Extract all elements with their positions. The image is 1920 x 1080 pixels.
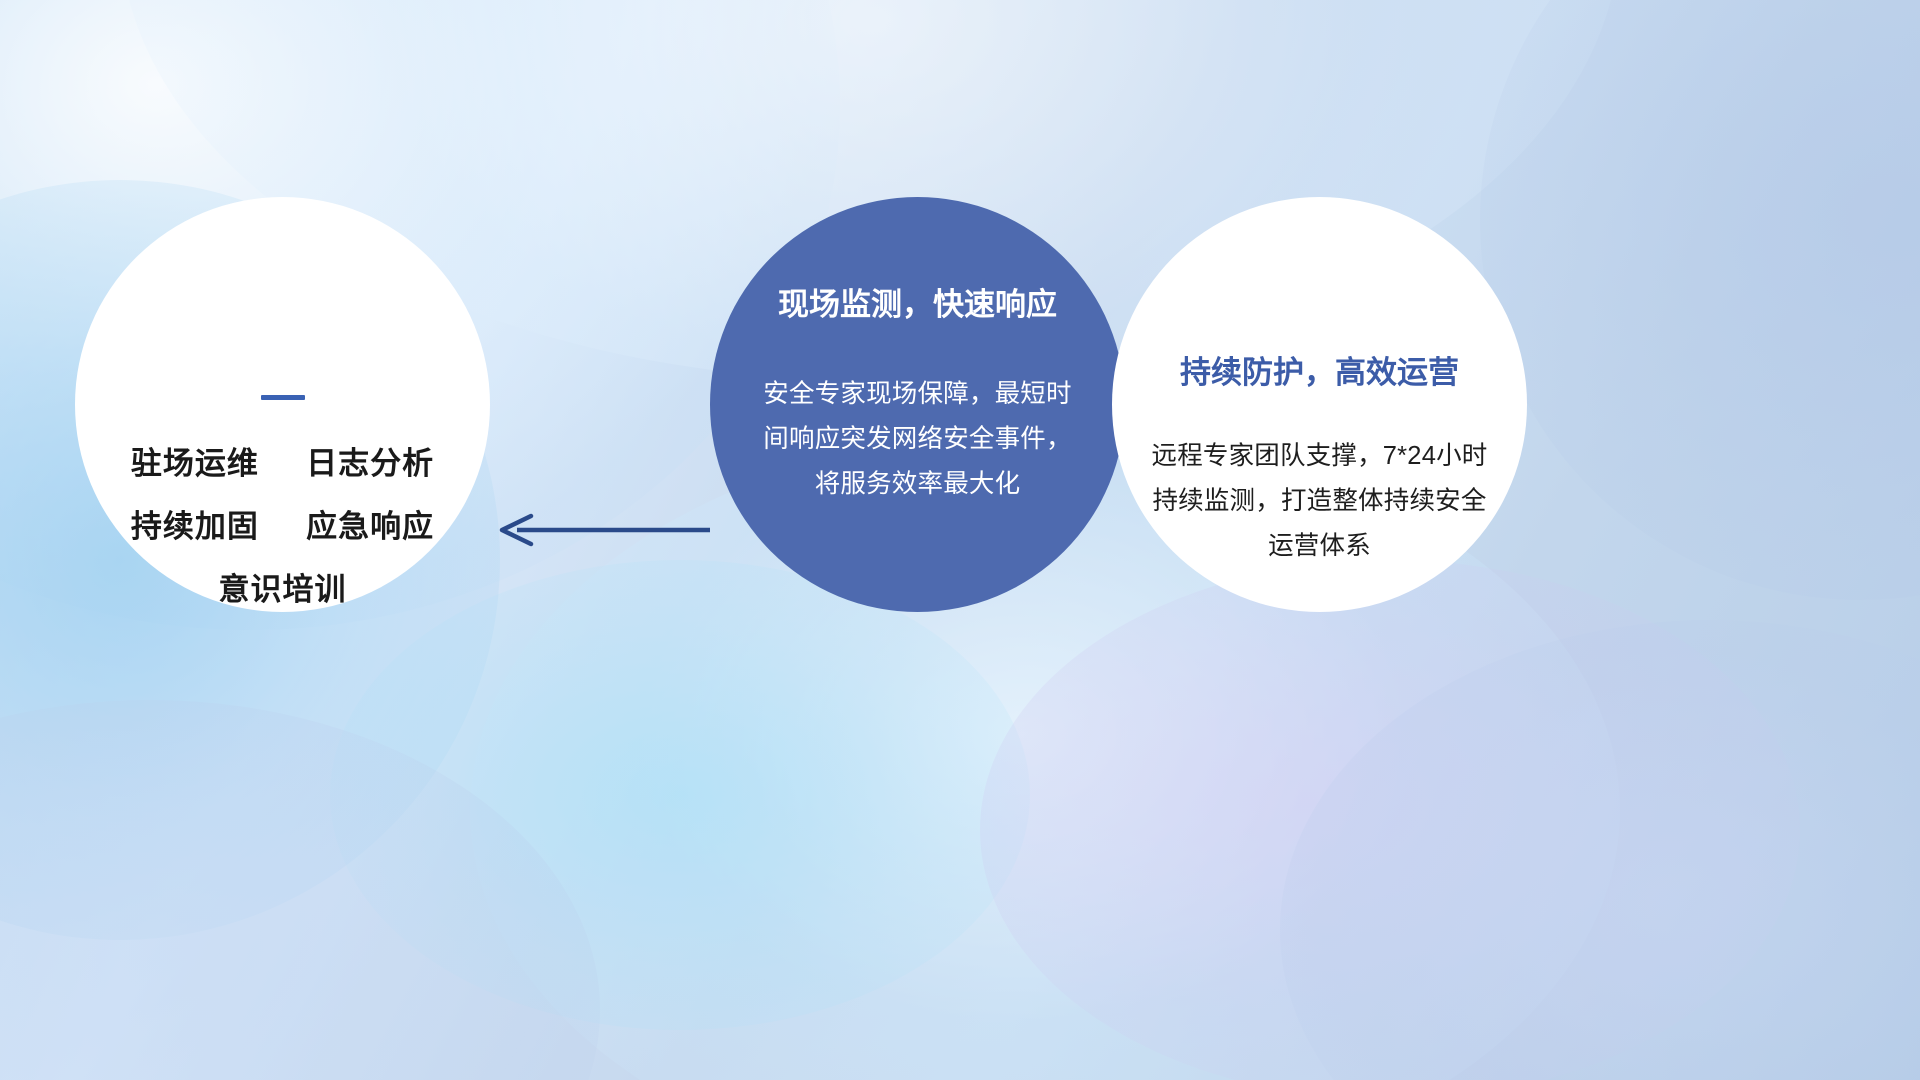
background-glow-bottom-right <box>1280 620 1920 1080</box>
capability-circle-left: 驻场运维 日志分析 持续加固 应急响应 意识培训 <box>75 197 490 612</box>
feature-circle-onsite-monitoring: 现场监测，快速响应 安全专家现场保障，最短时间响应突发网络安全事件，将服务效率最… <box>710 197 1125 612</box>
capability-label: 持续加固 <box>131 509 259 544</box>
circle-body: 远程专家团队支撑，7*24小时持续监测，打造整体持续安全运营体系 <box>1144 434 1496 569</box>
slide-canvas: 驻场运维 日志分析 持续加固 应急响应 意识培训 现场监测，快速响应 安全专家现… <box>0 0 1920 1080</box>
capability-label: 驻场运维 <box>131 446 259 481</box>
list-item: 意识培训 <box>219 558 347 621</box>
background-glow-mid-cyan <box>330 560 1030 1030</box>
capability-label: 应急响应 <box>306 509 434 544</box>
feature-circle-continuous-protection: 持续防护，高效运营 远程专家团队支撑，7*24小时持续监测，打造整体持续安全运营… <box>1112 197 1527 612</box>
capability-label: 日志分析 <box>306 446 434 481</box>
list-item: 驻场运维 日志分析 <box>131 432 434 495</box>
arrow-left-icon <box>495 505 710 555</box>
circle-title: 现场监测，快速响应 <box>778 279 1057 324</box>
circle-body: 安全专家现场保障，最短时间响应突发网络安全事件，将服务效率最大化 <box>753 372 1083 507</box>
circle-title: 持续防护，高效运营 <box>1180 347 1459 392</box>
background-glow-right-edge <box>1480 0 1920 600</box>
capability-label: 意识培训 <box>219 572 347 607</box>
background-glow-bottom-left <box>0 700 600 1080</box>
list-item: 持续加固 应急响应 <box>131 495 434 558</box>
background-glow-violet <box>980 560 1800 1080</box>
capability-list: 驻场运维 日志分析 持续加固 应急响应 意识培训 <box>75 432 490 621</box>
short-horizontal-dash-icon <box>261 395 305 400</box>
